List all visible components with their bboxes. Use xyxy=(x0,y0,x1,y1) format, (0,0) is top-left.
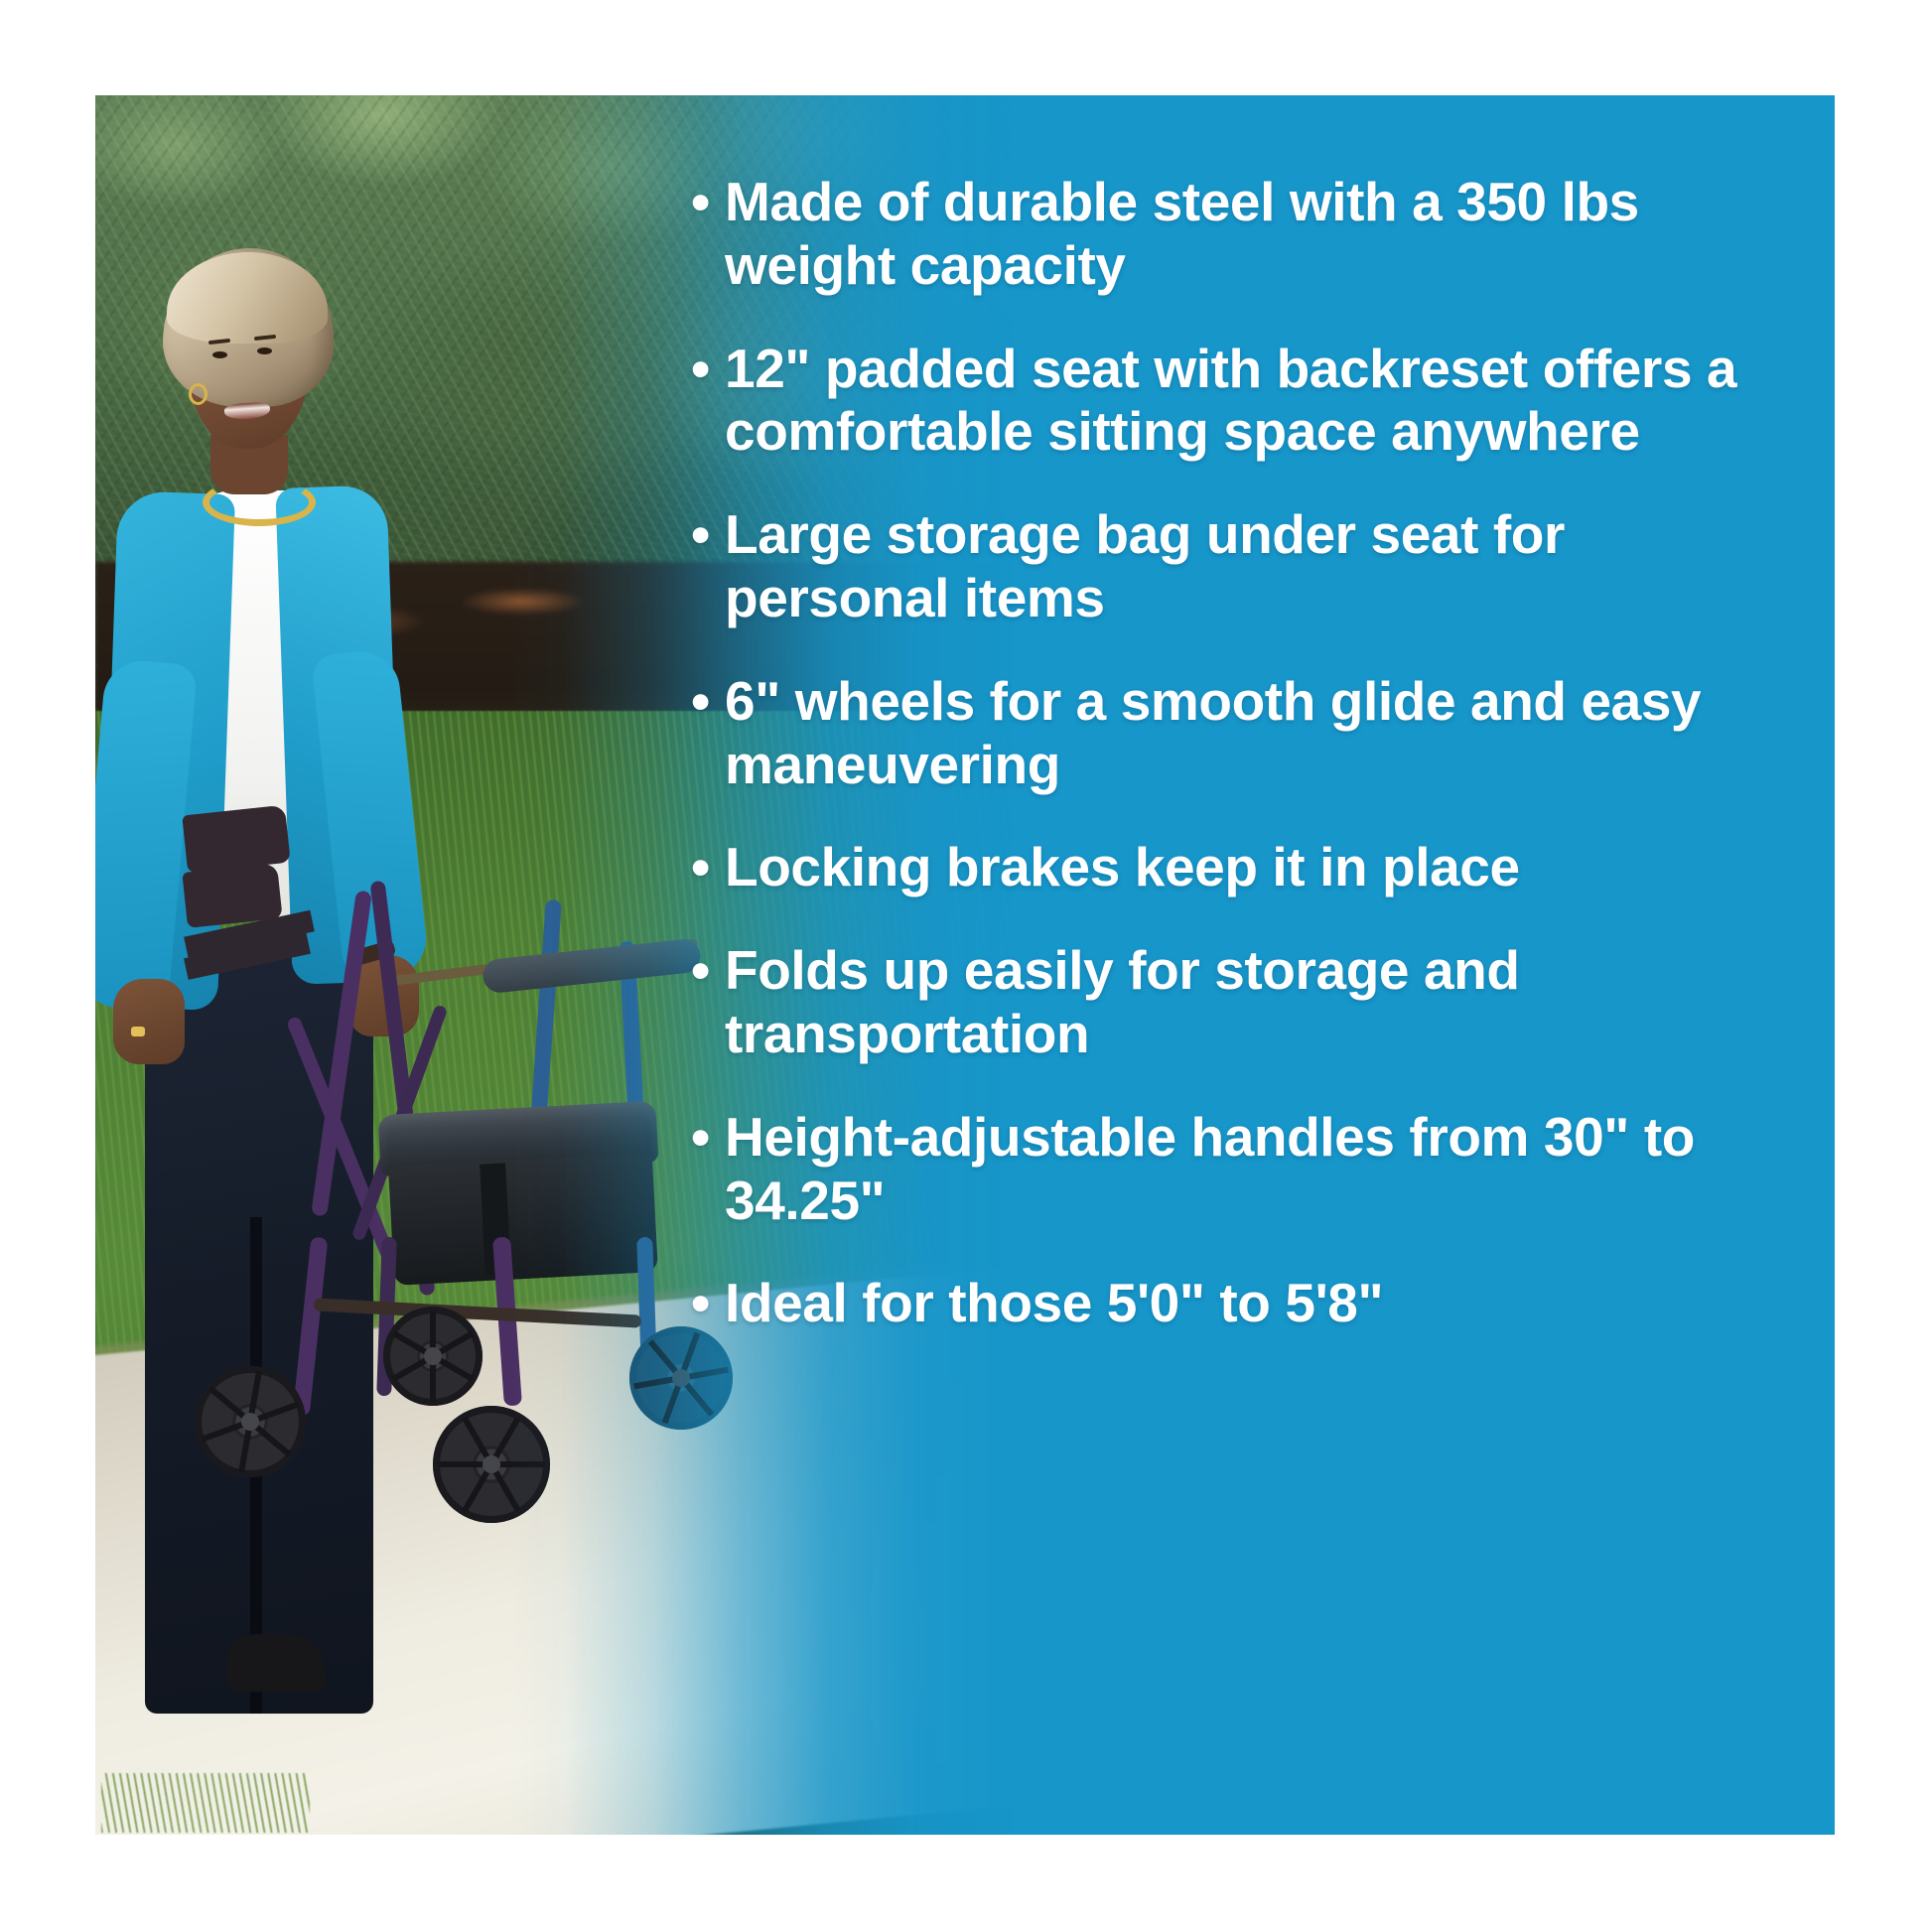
list-item: • Folds up easily for storage and transp… xyxy=(691,939,1775,1066)
walker-storage-bag xyxy=(388,1153,658,1286)
bullet-icon: • xyxy=(691,670,725,734)
list-item: • Made of durable steel with a 350 lbs w… xyxy=(691,171,1775,298)
bullet-icon: • xyxy=(691,836,725,899)
feature-bullet-list: • Made of durable steel with a 350 lbs w… xyxy=(651,95,1835,1835)
walker-wheel-rear-left xyxy=(383,1307,483,1406)
walker-leg-front-left xyxy=(293,1237,329,1417)
bullet-icon: • xyxy=(691,1106,725,1170)
walker-frame-left-rear xyxy=(311,890,372,1216)
feature-text: Height-adjustable handles from 30" to 34… xyxy=(725,1106,1775,1233)
walker-brake-lever-left xyxy=(182,805,290,874)
feature-text: Folds up easily for storage and transpor… xyxy=(725,939,1775,1066)
list-item: • Locking brakes keep it in place xyxy=(691,836,1775,899)
bullet-icon: • xyxy=(691,503,725,567)
woman-hair-front xyxy=(167,252,328,344)
bullet-icon: • xyxy=(691,338,725,401)
bullet-icon: • xyxy=(691,939,725,1003)
product-feature-card: • Made of durable steel with a 350 lbs w… xyxy=(95,95,1835,1835)
woman-hand-left xyxy=(113,979,185,1064)
feature-text: Large storage bag under seat for persona… xyxy=(725,503,1775,630)
list-item: • Height-adjustable handles from 30" to … xyxy=(691,1106,1775,1233)
walker-lower-cross-bar xyxy=(314,1298,641,1327)
feature-text: Ideal for those 5'0" to 5'8" xyxy=(725,1272,1775,1335)
feature-text: 6" wheels for a smooth glide and easy ma… xyxy=(725,670,1775,797)
grass-tuft xyxy=(101,1773,310,1833)
list-item: • 6" wheels for a smooth glide and easy … xyxy=(691,670,1775,797)
walker-wheel-front-left xyxy=(195,1366,306,1477)
list-item: • Large storage bag under seat for perso… xyxy=(691,503,1775,630)
woman-earring xyxy=(189,383,207,405)
bullet-icon: • xyxy=(691,171,725,234)
list-item: • Ideal for those 5'0" to 5'8" xyxy=(691,1272,1775,1335)
woman-eye-right xyxy=(257,347,272,354)
feature-text: Made of durable steel with a 350 lbs wei… xyxy=(725,171,1775,298)
bullet-icon: • xyxy=(691,1272,725,1335)
woman-ring xyxy=(131,1027,145,1036)
list-item: • 12" padded seat with backreset offers … xyxy=(691,338,1775,465)
woman-eye-left xyxy=(212,351,227,358)
feature-text: Locking brakes keep it in place xyxy=(725,836,1775,899)
woman-necklace xyxy=(203,479,316,526)
feature-text: 12" padded seat with backreset offers a … xyxy=(725,338,1775,465)
walker-wheel-front-right xyxy=(433,1406,550,1523)
